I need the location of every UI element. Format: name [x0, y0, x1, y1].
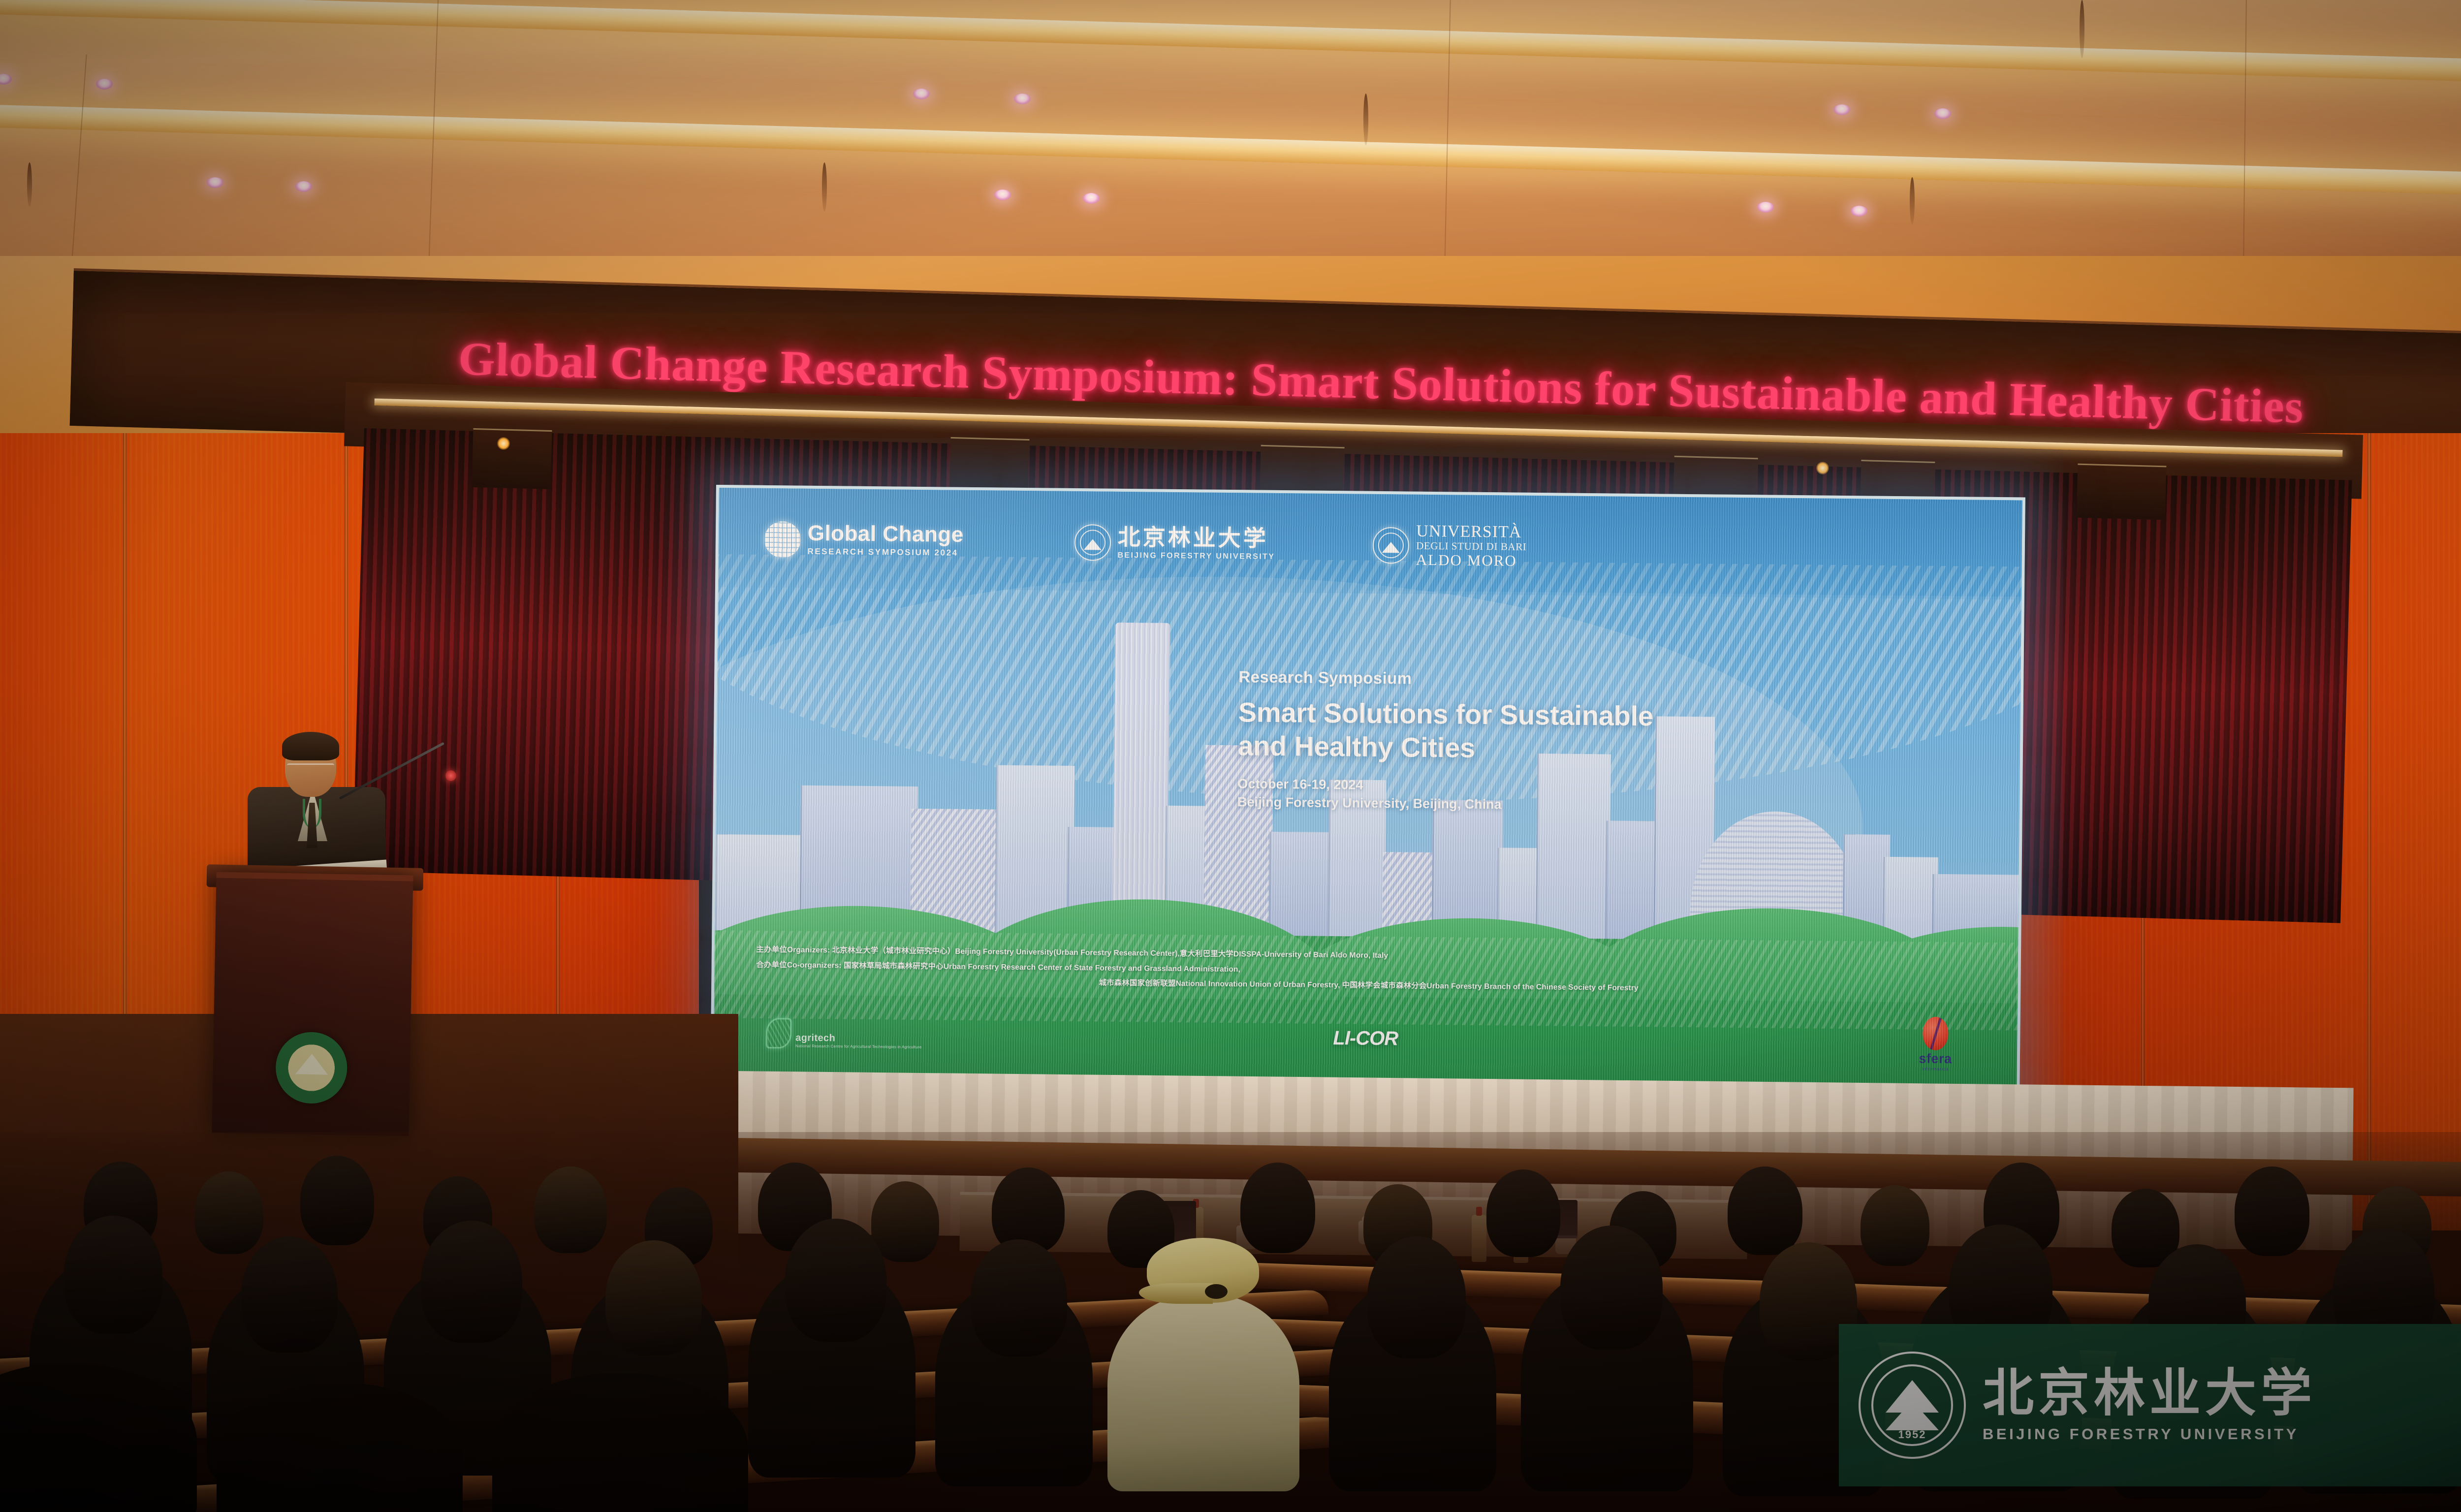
licor-logo: LI-COR: [1333, 1027, 1398, 1050]
audience-head: [534, 1166, 607, 1253]
ceiling-downlight: [295, 181, 312, 192]
stage-light-fixture: [2077, 464, 2167, 520]
ceiling-panel-seam: [71, 54, 87, 260]
watermark-chinese-name: 北京林业大学: [1983, 1367, 2461, 1418]
audience-head: [1861, 1185, 1929, 1266]
sfera-subtitle: informatica: [1919, 1067, 1952, 1072]
ceiling-downlight: [207, 177, 223, 188]
podium: [212, 872, 413, 1136]
audience-head: [1486, 1169, 1560, 1257]
seal-year: 1952: [1861, 1428, 1964, 1441]
ceiling-downlight: [1851, 206, 1867, 217]
auditorium-photo: Global Change Research Symposium: Smart …: [0, 0, 2461, 1512]
audience-silhouette: [1107, 1294, 1299, 1491]
ceiling: [0, 0, 2461, 276]
bfu-logo: 北京林业大学 BEIJING FORESTRY UNIVERSITY: [1074, 524, 1275, 563]
bari-seal-icon: [1373, 527, 1410, 564]
cove-light-strip-2: [0, 104, 2461, 201]
ceiling-downlight: [1934, 108, 1951, 119]
slide-text-block: Research Symposium Smart Solutions for S…: [1237, 667, 1995, 818]
stage-light-fixture: [472, 428, 552, 489]
ceiling-downlight: [1083, 193, 1100, 204]
ceiling-downlight: [1833, 104, 1850, 115]
agritech-logo: agritech National Research Centre for Ag…: [766, 1018, 922, 1050]
audience-head: [1367, 1236, 1466, 1358]
cove-light-strip-1: [0, 0, 2461, 89]
ceiling-speaker-hanger: [1910, 177, 1915, 224]
global-change-logo: Global Change RESEARCH SYMPOSIUM 2024: [764, 521, 964, 560]
bfu-chinese-name: 北京林业大学: [1118, 526, 1275, 550]
bfu-seal-icon: 1952: [1859, 1352, 1966, 1459]
ceiling-speaker-hanger: [1363, 94, 1368, 145]
ceiling-downlight: [1014, 94, 1031, 104]
bari-logo: UNIVERSITÀ DEGLI STUDI DI BARI ALDO MORO: [1373, 522, 1527, 569]
bari-line2: DEGLI STUDI DI BARI: [1416, 540, 1527, 553]
sfera-sphere-icon: [1923, 1017, 1949, 1050]
audience-head: [1728, 1166, 1802, 1255]
bari-line3: ALDO MORO: [1416, 552, 1527, 569]
ceiling-speaker-hanger: [822, 162, 827, 212]
audience-silhouette-front: [217, 1383, 463, 1512]
slide-title-line1: Smart Solutions for Sustainable: [1238, 696, 1994, 736]
audience-head: [2235, 1166, 2309, 1256]
global-change-subtitle: RESEARCH SYMPOSIUM 2024: [807, 547, 963, 558]
projection-screen: Global Change RESEARCH SYMPOSIUM 2024 北京…: [710, 485, 2025, 1105]
audience-head: [194, 1171, 263, 1254]
audience-head: [871, 1181, 939, 1262]
ceiling-speaker-hanger: [2080, 0, 2084, 58]
bfu-news-watermark: 1952 北京林业大学 BEIJING FORESTRY UNIVERSITY …: [1839, 1324, 2461, 1486]
audience-head: [64, 1216, 162, 1334]
ceiling-downlight: [1757, 202, 1774, 213]
agritech-subtitle: National Research Centre for Agricultura…: [795, 1043, 922, 1049]
watermark-english-name: BEIJING FORESTRY UNIVERSITY: [1983, 1425, 2461, 1443]
audience-head: [241, 1236, 338, 1353]
cap-button: [1205, 1284, 1228, 1299]
slide-title-line2: and Healthy Cities: [1238, 729, 1994, 769]
sfera-logo: sfera informatica: [1919, 1017, 1952, 1072]
globe-icon: [764, 521, 801, 558]
audience-head: [1240, 1163, 1315, 1253]
bfu-seal-icon: [1074, 524, 1111, 561]
slide-logo-row: Global Change RESEARCH SYMPOSIUM 2024 北京…: [718, 497, 2022, 594]
leaf-icon: [766, 1018, 792, 1048]
stage-light-glow: [497, 437, 510, 450]
sfera-name: sfera: [1919, 1051, 1952, 1067]
baseball-cap: [1147, 1238, 1259, 1303]
bari-line1: UNIVERSITÀ: [1416, 523, 1527, 541]
agritech-name: agritech: [795, 1032, 922, 1044]
bfu-emblem-icon: [275, 1032, 348, 1104]
audience-head: [971, 1239, 1067, 1356]
audience-head: [785, 1219, 886, 1342]
ceiling-panel-seam: [2243, 0, 2247, 266]
audience-head: [605, 1240, 702, 1355]
ceiling-downlight: [0, 74, 12, 85]
ceiling-downlight: [994, 189, 1011, 200]
stage-light-glow: [1816, 462, 1829, 474]
ceiling-downlight: [96, 79, 113, 90]
ceiling-downlight: [913, 89, 930, 99]
audience-silhouette-front: [492, 1373, 748, 1512]
global-change-name: Global Change: [808, 523, 964, 546]
microphone-head: [445, 770, 456, 781]
eyeglasses: [287, 763, 334, 772]
audience-head: [300, 1156, 374, 1245]
audience-head: [1560, 1226, 1663, 1350]
ceiling-speaker-hanger: [27, 162, 32, 207]
audience-head: [421, 1221, 522, 1343]
bfu-english-name: BEIJING FORESTRY UNIVERSITY: [1117, 551, 1275, 562]
